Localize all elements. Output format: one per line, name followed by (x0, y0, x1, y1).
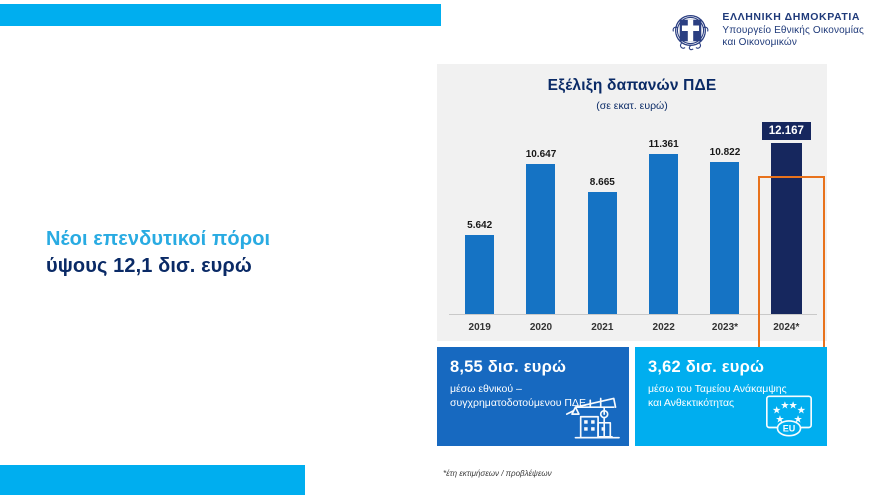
bar-slot-2022: 11.361 (633, 122, 694, 314)
svg-text:EU: EU (783, 424, 796, 434)
x-tick-2022: 2022 (633, 322, 694, 333)
bar (649, 154, 678, 314)
bar (588, 192, 617, 314)
x-tick-2021: 2021 (572, 322, 633, 333)
ministry-logo: ΕΛΛΗΝΙΚΗ ΔΗΜΟΚΡΑΤΙΑ Υπουργείο Εθνικής Οι… (668, 8, 864, 53)
info-amount: 8,55 δισ. ευρώ (450, 358, 617, 377)
bar-value-label: 5.642 (467, 220, 492, 231)
logo-line-2: Υπουργείο Εθνικής Οικονομίας (722, 25, 864, 38)
x-tick-2020: 2020 (510, 322, 571, 333)
info-box-recovery-fund[interactable]: 3,62 δισ. ευρώ μέσω του Ταμείου Ανάκαμψη… (635, 347, 827, 446)
bar-slot-2020: 10.647 (510, 122, 571, 314)
bar-value-label: 8.665 (590, 177, 615, 188)
bar-value-label: 10.647 (526, 149, 557, 160)
chart-title: Εξέλιξη δαπανών ΠΔΕ (437, 77, 827, 95)
headline-line-1: Νέοι επενδυτικοί πόροι (46, 226, 396, 253)
chart-plot-area: 5.64210.6478.66511.36110.82212.167 20192… (447, 122, 819, 341)
bar-value-label: 10.822 (710, 147, 741, 158)
x-tick-2023: 2023* (694, 322, 755, 333)
x-tick-2024: 2024* (756, 322, 817, 333)
bar-slot-2019: 5.642 (449, 122, 510, 314)
x-tick-2019: 2019 (449, 322, 510, 333)
bar (771, 143, 802, 314)
bar-slot-2021: 8.665 (572, 122, 633, 314)
slide-root: ΕΛΛΗΝΙΚΗ ΔΗΜΟΚΡΑΤΙΑ Υπουργείο Εθνικής Οι… (0, 0, 880, 495)
headline-line-2: ύψους 12,1 δισ. ευρώ (46, 253, 396, 280)
logo-line-1: ΕΛΛΗΝΙΚΗ ΔΗΜΟΚΡΑΤΙΑ (722, 11, 864, 24)
page-title: Νέοι επενδυτικοί πόροι ύψους 12,1 δισ. ε… (46, 226, 396, 280)
bar (465, 235, 494, 314)
info-box-national-pde[interactable]: 8,55 δισ. ευρώ μέσω εθνικού – συγχρηματο… (437, 347, 629, 446)
bar-slot-2023: 10.822 (694, 122, 755, 314)
chart-panel: Εξέλιξη δαπανών ΠΔΕ (σε εκατ. ευρώ) 5.64… (437, 64, 827, 341)
info-amount: 3,62 δισ. ευρώ (648, 358, 815, 377)
bottom-accent-bar (0, 465, 305, 495)
construction-crane-building-icon (561, 388, 623, 442)
eu-stars-icon: EU (759, 393, 819, 439)
bar-series: 5.64210.6478.66511.36110.82212.167 (449, 122, 817, 314)
bar-slot-2024: 12.167 (756, 122, 817, 314)
bar-value-label: 12.167 (762, 122, 811, 140)
bar (526, 164, 555, 314)
x-axis-tick-labels: 20192020202120222023*2024* (449, 317, 817, 337)
bar-value-label: 11.361 (649, 139, 679, 150)
info-box-row: 8,55 δισ. ευρώ μέσω εθνικού – συγχρηματο… (437, 347, 827, 446)
bar (710, 162, 739, 314)
top-accent-bar (0, 4, 441, 26)
chart-subtitle: (σε εκατ. ευρώ) (437, 100, 827, 112)
x-axis-line (449, 314, 817, 315)
footnote: *έτη εκτιμήσεων / προβλέψεων (443, 469, 552, 478)
logo-line-3: και Οικονομικών (722, 37, 864, 50)
greek-coat-of-arms-icon (668, 8, 713, 53)
